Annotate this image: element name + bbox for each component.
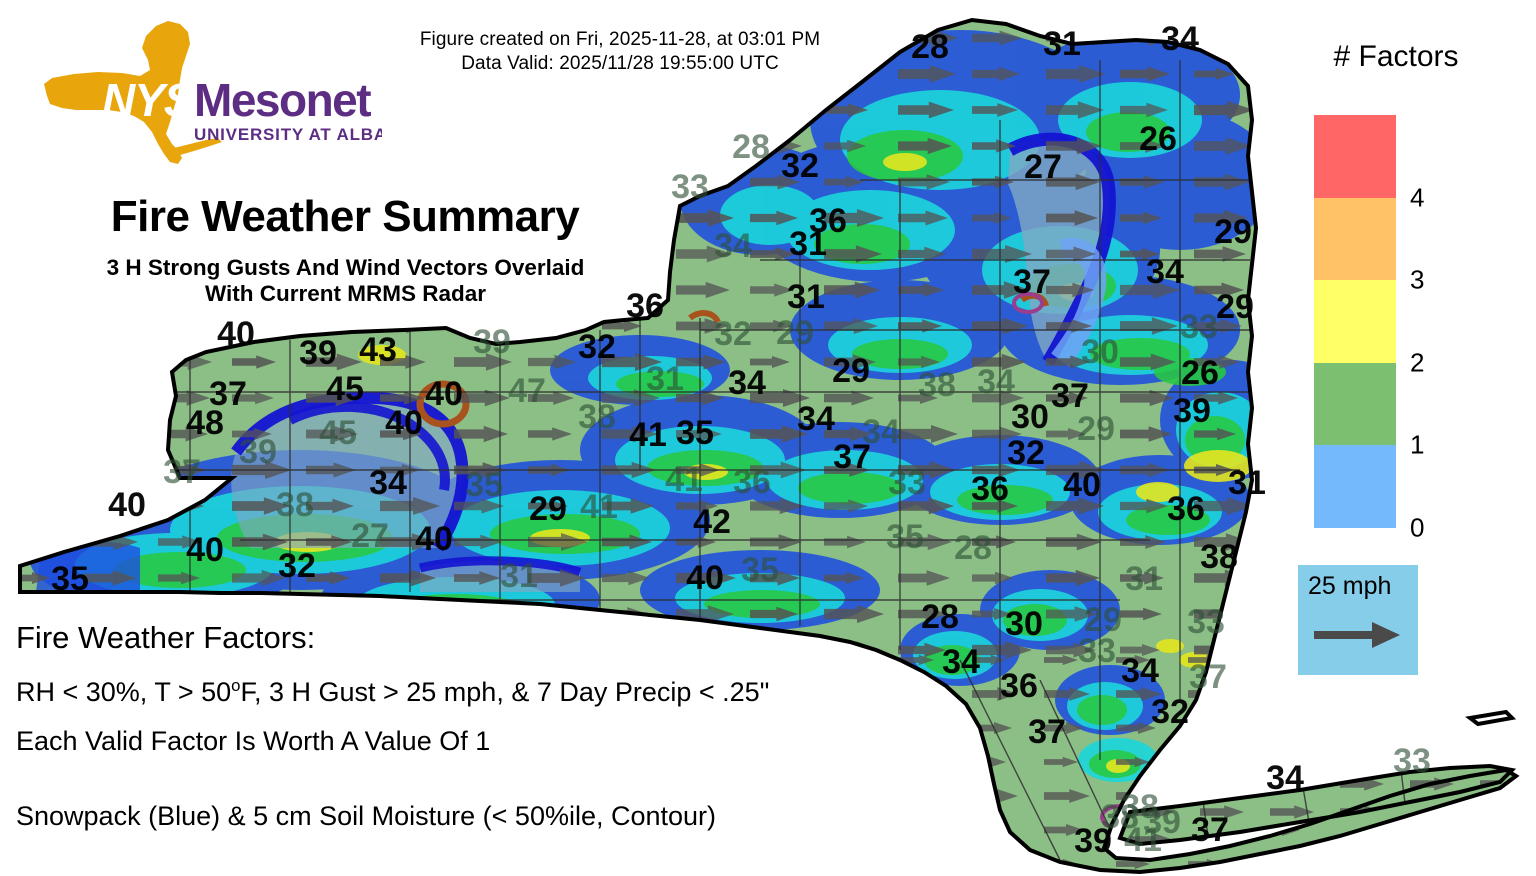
svg-text:47: 47 [508, 372, 546, 410]
colorbar-band-0 [1314, 445, 1396, 528]
svg-text:39: 39 [1074, 822, 1112, 860]
svg-text:32: 32 [278, 547, 316, 585]
svg-text:39: 39 [1173, 392, 1211, 430]
svg-text:36: 36 [1167, 490, 1205, 528]
svg-text:29: 29 [776, 314, 814, 352]
svg-text:37: 37 [833, 438, 871, 476]
svg-text:27: 27 [1024, 148, 1062, 186]
svg-text:34: 34 [714, 227, 752, 265]
svg-text:29: 29 [1077, 410, 1115, 448]
svg-text:28: 28 [921, 598, 959, 636]
caption-factor-criteria: RH < 30%, T > 50oF, 3 H Gust > 25 mph, &… [16, 679, 916, 706]
svg-text:45: 45 [326, 370, 364, 408]
svg-text:36: 36 [733, 463, 771, 501]
svg-text:31: 31 [1228, 464, 1266, 502]
svg-text:37: 37 [1191, 811, 1229, 849]
svg-text:27: 27 [351, 517, 389, 555]
svg-text:38: 38 [276, 486, 314, 524]
logo-mesonet: Mesonet [194, 74, 371, 126]
svg-text:29: 29 [1216, 288, 1254, 326]
svg-text:31: 31 [1043, 25, 1081, 63]
svg-text:34: 34 [1121, 652, 1159, 690]
svg-text:35: 35 [51, 560, 89, 598]
colorbar-band-4 [1314, 115, 1396, 198]
colorbar-band-3 [1314, 198, 1396, 281]
caption-snowpack-note: Snowpack (Blue) & 5 cm Soil Moisture (< … [16, 803, 916, 830]
svg-text:26: 26 [1139, 120, 1177, 158]
svg-text:30: 30 [1005, 605, 1043, 643]
caption-factor-value: Each Valid Factor Is Worth A Value Of 1 [16, 728, 916, 755]
page-subtitle: 3 H Strong Gusts And Wind Vectors Overla… [18, 255, 673, 308]
svg-text:34: 34 [1146, 253, 1184, 291]
svg-text:34: 34 [977, 363, 1015, 401]
svg-text:31: 31 [787, 278, 825, 316]
svg-text:32: 32 [578, 328, 616, 366]
svg-text:40: 40 [186, 531, 224, 569]
svg-text:33: 33 [888, 464, 926, 502]
svg-text:32: 32 [781, 147, 819, 185]
svg-text:38: 38 [578, 398, 616, 436]
subtitle-line-2: With Current MRMS Radar [18, 281, 673, 307]
data-valid-text: Data Valid: 2025/11/28 19:55:00 UTC [360, 52, 880, 76]
svg-text:29: 29 [1214, 213, 1252, 251]
svg-text:34: 34 [369, 464, 407, 502]
svg-text:31: 31 [1125, 560, 1163, 598]
svg-text:40: 40 [385, 404, 423, 442]
svg-text:31: 31 [500, 557, 538, 595]
svg-text:33: 33 [1180, 308, 1218, 346]
svg-text:35: 35 [676, 414, 714, 452]
svg-text:41: 41 [1124, 821, 1162, 859]
svg-text:26: 26 [1181, 354, 1219, 392]
figure-timestamp-block: Figure created on Fri, 2025-11-28, at 03… [360, 28, 880, 77]
factors-colorbar: 4 3 2 1 0 [1314, 115, 1396, 528]
svg-text:38: 38 [918, 366, 956, 404]
svg-text:37: 37 [1028, 713, 1066, 751]
svg-text:30: 30 [1081, 333, 1119, 371]
svg-text:35: 35 [741, 551, 779, 589]
svg-text:37: 37 [1013, 263, 1051, 301]
legend-title: # Factors [1296, 40, 1496, 74]
logo-nys: NYS [102, 74, 195, 126]
svg-text:39: 39 [473, 323, 511, 361]
svg-text:31: 31 [646, 360, 684, 398]
svg-text:39: 39 [299, 334, 337, 372]
svg-text:42: 42 [693, 503, 731, 541]
logo-university: UNIVERSITY AT ALBANY [194, 125, 382, 144]
svg-text:40: 40 [686, 559, 724, 597]
svg-text:33: 33 [1393, 742, 1431, 780]
colorbar-tick-1: 1 [1410, 430, 1424, 461]
svg-text:39: 39 [239, 433, 277, 471]
colorbar-tick-4: 4 [1410, 182, 1424, 213]
criteria-part-a: RH < 30%, T > 50 [16, 677, 231, 707]
svg-text:41: 41 [665, 461, 703, 499]
svg-text:37: 37 [1189, 658, 1227, 696]
svg-text:36: 36 [1000, 667, 1038, 705]
nys-mesonet-logo: NYS Mesonet UNIVERSITY AT ALBANY [22, 18, 382, 168]
colorbar-tick-3: 3 [1410, 265, 1424, 296]
wind-key-label: 25 mph [1308, 572, 1391, 601]
svg-text:30: 30 [1011, 398, 1049, 436]
svg-text:40: 40 [108, 486, 146, 524]
figure-created-text: Figure created on Fri, 2025-11-28, at 03… [360, 28, 880, 52]
svg-text:38: 38 [1200, 538, 1238, 576]
svg-text:34: 34 [728, 364, 766, 402]
colorbar-tick-2: 2 [1410, 347, 1424, 378]
svg-text:40: 40 [415, 520, 453, 558]
svg-text:48: 48 [186, 404, 224, 442]
svg-text:45: 45 [319, 414, 357, 452]
caption-block: Fire Weather Factors: RH < 30%, T > 50oF… [16, 622, 916, 852]
svg-text:32: 32 [1007, 434, 1045, 472]
colorbar-tick-0: 0 [1410, 513, 1424, 544]
svg-text:34: 34 [1161, 20, 1199, 58]
svg-text:34: 34 [1266, 759, 1304, 797]
wind-vector-key: 25 mph [1298, 565, 1418, 675]
svg-text:40: 40 [425, 375, 463, 413]
svg-text:32: 32 [1151, 693, 1189, 731]
caption-heading: Fire Weather Factors: [16, 622, 916, 653]
svg-text:29: 29 [832, 352, 870, 390]
svg-text:28: 28 [911, 28, 949, 66]
svg-text:28: 28 [954, 529, 992, 567]
svg-text:40: 40 [217, 315, 255, 353]
svg-text:36: 36 [971, 470, 1009, 508]
svg-text:43: 43 [359, 331, 397, 369]
arrow-right-icon [1314, 620, 1402, 655]
svg-text:36: 36 [809, 202, 847, 240]
svg-text:28: 28 [732, 128, 770, 166]
subtitle-line-1: 3 H Strong Gusts And Wind Vectors Overla… [18, 255, 673, 281]
svg-text:33: 33 [1187, 603, 1225, 641]
caption-spacer [16, 777, 916, 803]
svg-text:37: 37 [163, 453, 201, 491]
svg-text:32: 32 [714, 315, 752, 353]
svg-text:35: 35 [886, 518, 924, 556]
svg-text:33: 33 [1078, 632, 1116, 670]
svg-text:33: 33 [671, 168, 709, 206]
svg-text:34: 34 [942, 643, 980, 681]
criteria-part-b: F, 3 H Gust > 25 mph, & 7 Day Precip < .… [240, 677, 769, 707]
svg-text:29: 29 [529, 490, 567, 528]
page-title: Fire Weather Summary [20, 192, 670, 242]
svg-text:40: 40 [1063, 466, 1101, 504]
colorbar-band-2 [1314, 280, 1396, 363]
colorbar-band-1 [1314, 363, 1396, 446]
svg-text:34: 34 [797, 400, 835, 438]
svg-text:41: 41 [629, 416, 667, 454]
svg-text:35: 35 [465, 466, 503, 504]
svg-text:41: 41 [580, 488, 618, 526]
